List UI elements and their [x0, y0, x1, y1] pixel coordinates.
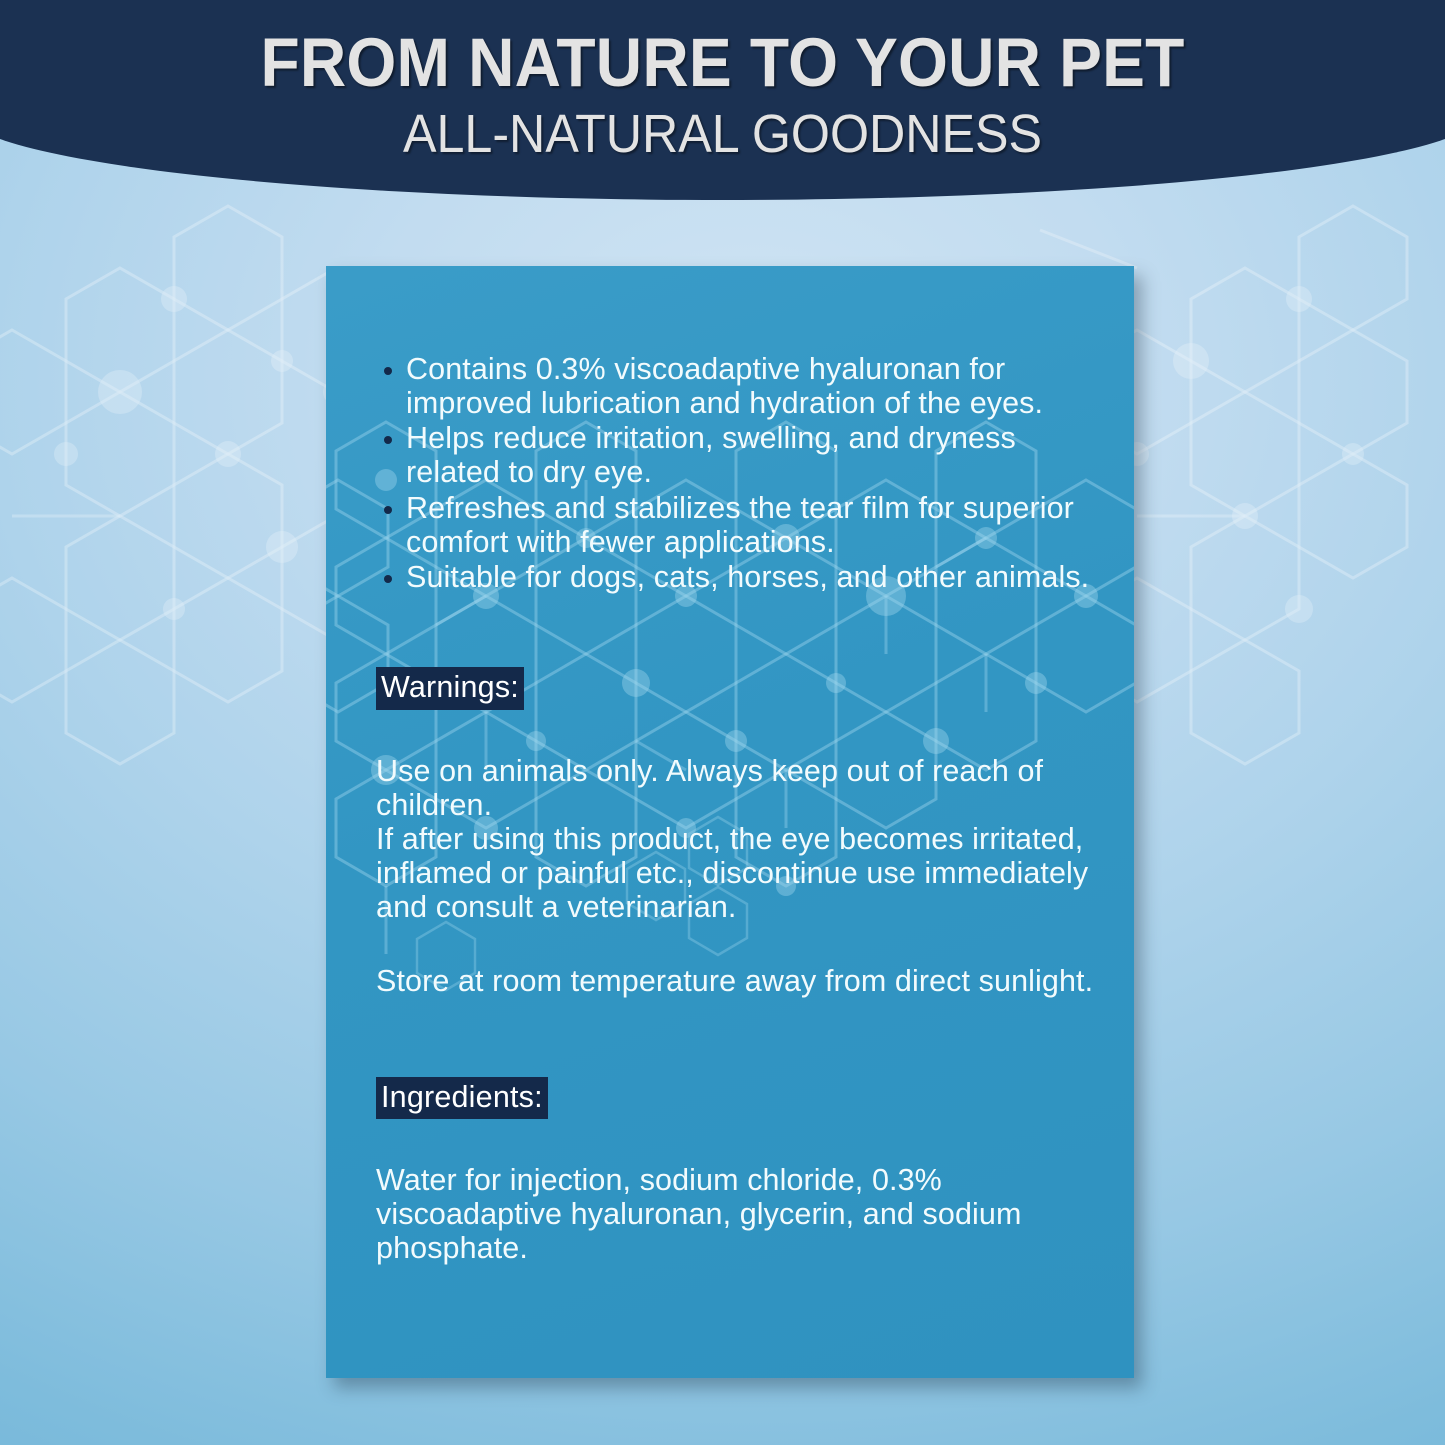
warnings-label: Warnings: — [376, 667, 524, 710]
ingredients-label: Ingredients: — [376, 1077, 548, 1120]
product-info-poster: FROM NATURE TO YOUR PET ALL-NATURAL GOOD… — [0, 0, 1445, 1445]
header-band: FROM NATURE TO YOUR PET ALL-NATURAL GOOD… — [0, 0, 1445, 200]
product-info-panel: Contains 0.3% viscoadaptive hyaluronan f… — [326, 266, 1134, 1378]
list-item: Refreshes and stabilizes the tear film f… — [376, 491, 1094, 559]
page-title: FROM NATURE TO YOUR PET — [51, 0, 1395, 99]
ingredients-body: Water for injection, sodium chloride, 0.… — [376, 1163, 1094, 1265]
storage-instructions: Store at room temperature away from dire… — [376, 964, 1094, 998]
page-subtitle: ALL-NATURAL GOODNESS — [51, 99, 1395, 163]
warnings-body: Use on animals only. Always keep out of … — [376, 754, 1094, 925]
feature-list: Contains 0.3% viscoadaptive hyaluronan f… — [376, 352, 1094, 594]
list-item: Suitable for dogs, cats, horses, and oth… — [376, 560, 1094, 594]
list-item: Helps reduce irritation, swelling, and d… — [376, 421, 1094, 489]
list-item: Contains 0.3% viscoadaptive hyaluronan f… — [376, 352, 1094, 420]
